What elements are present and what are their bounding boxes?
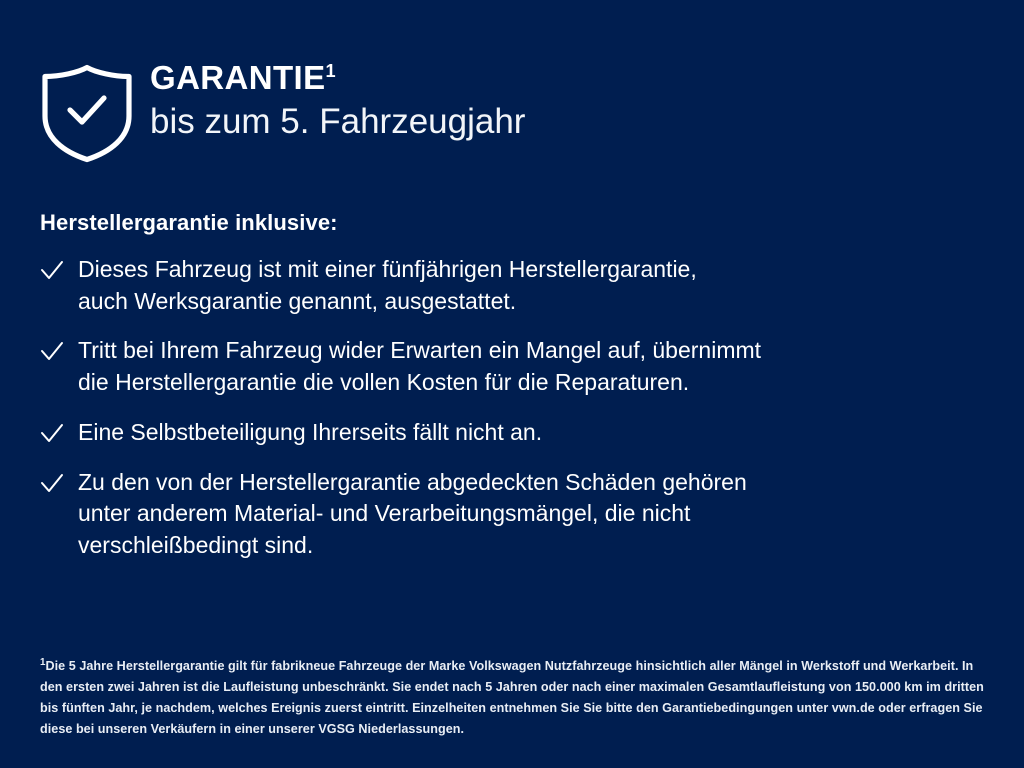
header-text: GARANTIE1 bis zum 5. Fahrzeugjahr [150,58,525,143]
page-subtitle: bis zum 5. Fahrzeugjahr [150,101,525,143]
shield-check-icon [40,62,134,164]
footnote: 1Die 5 Jahre Herstellergarantie gilt für… [40,655,992,740]
check-icon [40,467,78,495]
list-item: Zu den von der Herstellergarantie abgede… [40,467,984,562]
list-item-label: Dieses Fahrzeug ist mit einer fünfjährig… [78,254,697,317]
check-icon [40,417,78,445]
header: GARANTIE1 bis zum 5. Fahrzeugjahr [40,58,525,164]
list-item: Eine Selbstbeteiligung Ihrerseits fällt … [40,417,984,449]
garantie-slide: GARANTIE1 bis zum 5. Fahrzeugjahr Herste… [0,0,1024,768]
main-content: Herstellergarantie inklusive: Dieses Fah… [40,210,984,562]
footnote-text: Die 5 Jahre Herstellergarantie gilt für … [40,659,984,736]
check-icon [40,335,78,363]
check-icon [40,254,78,282]
section-heading: Herstellergarantie inklusive: [40,210,984,236]
list-item-label: Eine Selbstbeteiligung Ihrerseits fällt … [78,417,542,449]
benefits-list: Dieses Fahrzeug ist mit einer fünfjährig… [40,254,984,562]
page-title-superscript: 1 [326,61,336,81]
page-title-text: GARANTIE [150,59,326,96]
page-title: GARANTIE1 [150,60,525,96]
list-item-label: Tritt bei Ihrem Fahrzeug wider Erwarten … [78,335,761,398]
list-item-label: Zu den von der Herstellergarantie abgede… [78,467,747,562]
list-item: Dieses Fahrzeug ist mit einer fünfjährig… [40,254,984,317]
list-item: Tritt bei Ihrem Fahrzeug wider Erwarten … [40,335,984,398]
